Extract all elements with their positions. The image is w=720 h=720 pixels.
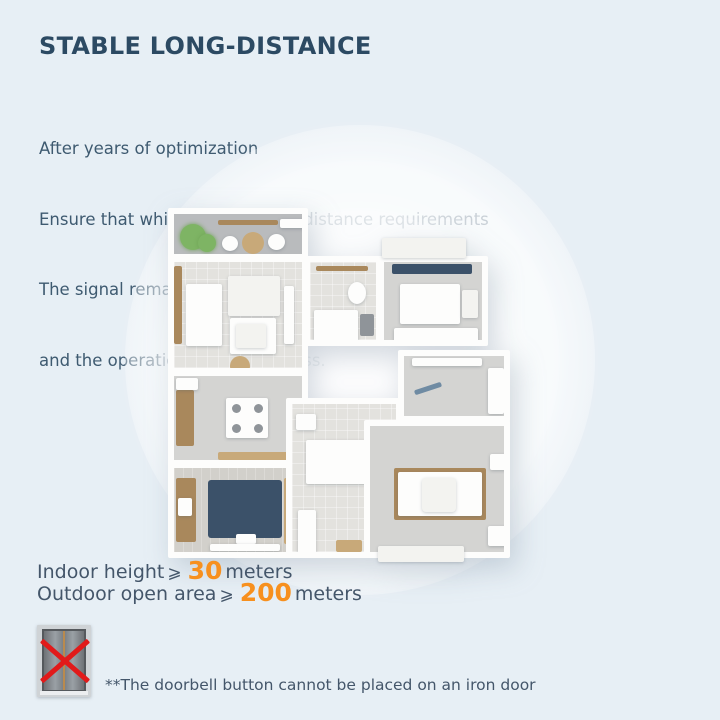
ge-symbol: ⩾: [216, 585, 236, 605]
room-master-bedroom: [364, 420, 510, 558]
room-bedroom-1: [378, 256, 488, 346]
promo-page: STABLE LONG-DISTANCE After years of opti…: [0, 0, 720, 720]
iron-door-crossed-out-icon: [37, 625, 91, 697]
warning-text: **The doorbell button cannot be placed o…: [105, 625, 536, 720]
room-bathroom: [304, 256, 382, 346]
room-balcony: [168, 208, 308, 260]
floor-plan-illustration: [120, 150, 600, 570]
apartment-plan: [168, 208, 558, 558]
spec-outdoor-open-area: Outdoor open area⩾200meters: [37, 578, 362, 607]
door-base: [40, 691, 88, 695]
spec-value: 200: [237, 578, 295, 607]
room-utility: [398, 350, 510, 422]
spec-unit: meters: [295, 583, 362, 605]
page-title: STABLE LONG-DISTANCE: [39, 32, 372, 60]
room-living: [168, 256, 308, 374]
warning-block: **The doorbell button cannot be placed o…: [37, 625, 536, 720]
warning-line-1: **The doorbell button cannot be placed o…: [105, 674, 536, 697]
spec-label: Outdoor open area: [37, 583, 216, 605]
